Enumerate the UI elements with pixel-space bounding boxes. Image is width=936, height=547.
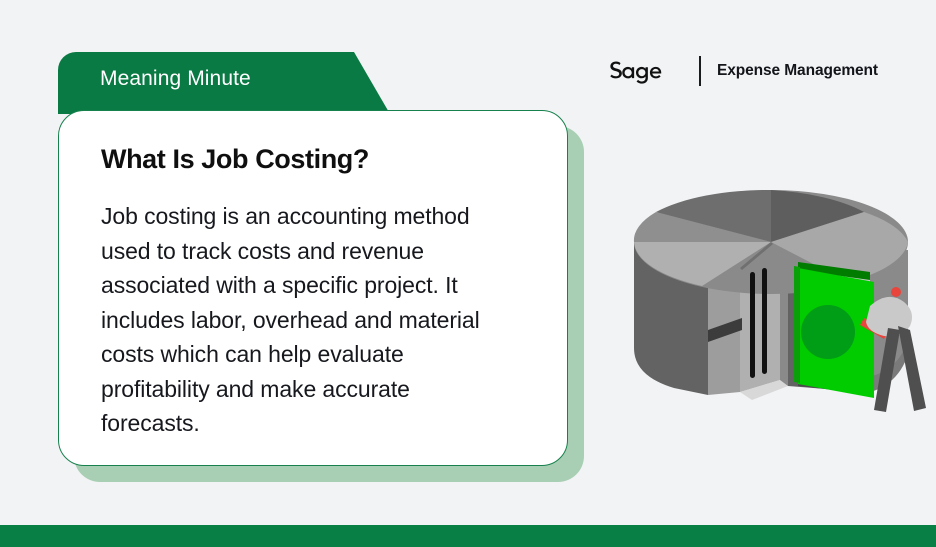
card-body-text: Job costing is an accounting method used… <box>101 199 491 441</box>
vault-bar-right <box>762 268 767 374</box>
figure-indicator-dot <box>891 287 901 297</box>
card-content: What Is Job Costing? Job costing is an a… <box>101 143 537 441</box>
door-dial <box>801 305 855 359</box>
brand-divider <box>699 56 701 86</box>
brand-product-name: Expense Management <box>717 62 878 80</box>
vault-bar-left <box>750 272 755 378</box>
figure-leg-right <box>898 326 926 411</box>
sage-logo <box>609 58 683 84</box>
tab-label: Meaning Minute <box>100 67 251 91</box>
meaning-minute-tab: Meaning Minute <box>58 52 390 114</box>
content-card: What Is Job Costing? Job costing is an a… <box>58 110 568 466</box>
vault-illustration <box>612 180 936 430</box>
meaning-minute-graphic: Expense Management Meaning Minute What I… <box>0 0 936 547</box>
door-left-edge <box>794 266 800 383</box>
bottom-accent-band <box>0 525 936 547</box>
vault-illustration-svg <box>612 180 936 430</box>
card-title: What Is Job Costing? <box>101 143 537 175</box>
brand-lockup: Expense Management <box>609 54 878 88</box>
